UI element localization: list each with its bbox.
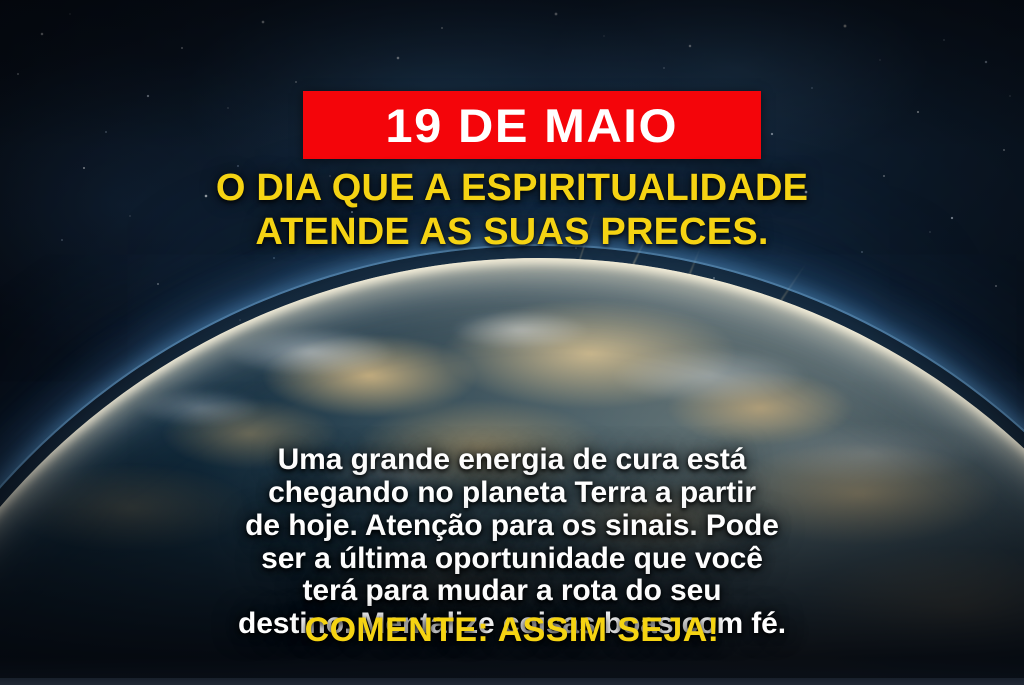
headline-line-1: O DIA QUE A ESPIRITUALIDADE: [0, 166, 1024, 210]
body-line-3: de hoje. Atenção para os sinais. Pode: [0, 510, 1024, 543]
body-line-2: chegando no planeta Terra a partir: [0, 477, 1024, 510]
poster-content: 19 DE MAIO O DIA QUE A ESPIRITUALIDADE A…: [0, 0, 1024, 685]
headline: O DIA QUE A ESPIRITUALIDADE ATENDE AS SU…: [0, 166, 1024, 255]
headline-line-2: ATENDE AS SUAS PRECES.: [0, 210, 1024, 254]
date-banner-text: 19 DE MAIO: [386, 102, 679, 149]
body-line-4: ser a última oportunidade que você: [0, 543, 1024, 576]
body-line-5: terá para mudar a rota do seu: [0, 575, 1024, 608]
body-line-1: Uma grande energia de cura está: [0, 444, 1024, 477]
poster-canvas: 19 DE MAIO O DIA QUE A ESPIRITUALIDADE A…: [0, 0, 1024, 685]
call-to-action-text: COMENTE: ASSIM SEJA!: [0, 611, 1024, 650]
date-banner: 19 DE MAIO: [303, 91, 761, 159]
